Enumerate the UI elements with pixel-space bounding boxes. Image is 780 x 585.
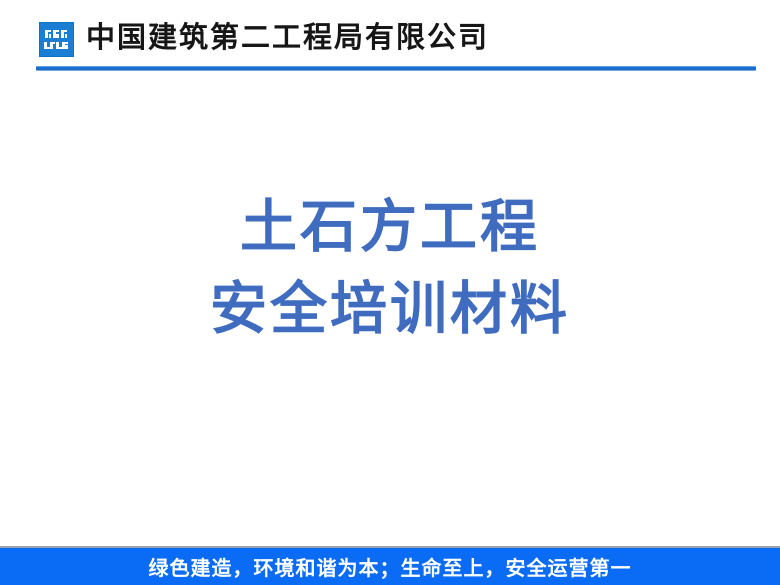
slide-title-line-1: 土石方工程 — [0, 186, 780, 268]
company-name: 中国建筑第二工程局有限公司 — [86, 18, 489, 58]
header-divider — [36, 66, 756, 71]
slide-header: 中国建筑第二工程局有限公司 — [0, 0, 780, 72]
cscec-logo-icon — [39, 22, 74, 57]
slide-title-line-2: 安全培训材料 — [0, 268, 780, 350]
footer-banner: 绿色建造，环境和谐为本；生命至上，安全运营第一 — [0, 546, 780, 585]
presentation-slide: 中国建筑第二工程局有限公司 土石方工程 安全培训材料 绿色建造，环境和谐为本；生… — [0, 0, 780, 585]
slide-title-block: 土石方工程 安全培训材料 — [0, 186, 780, 350]
footer-slogan: 绿色建造，环境和谐为本；生命至上，安全运营第一 — [149, 552, 632, 581]
